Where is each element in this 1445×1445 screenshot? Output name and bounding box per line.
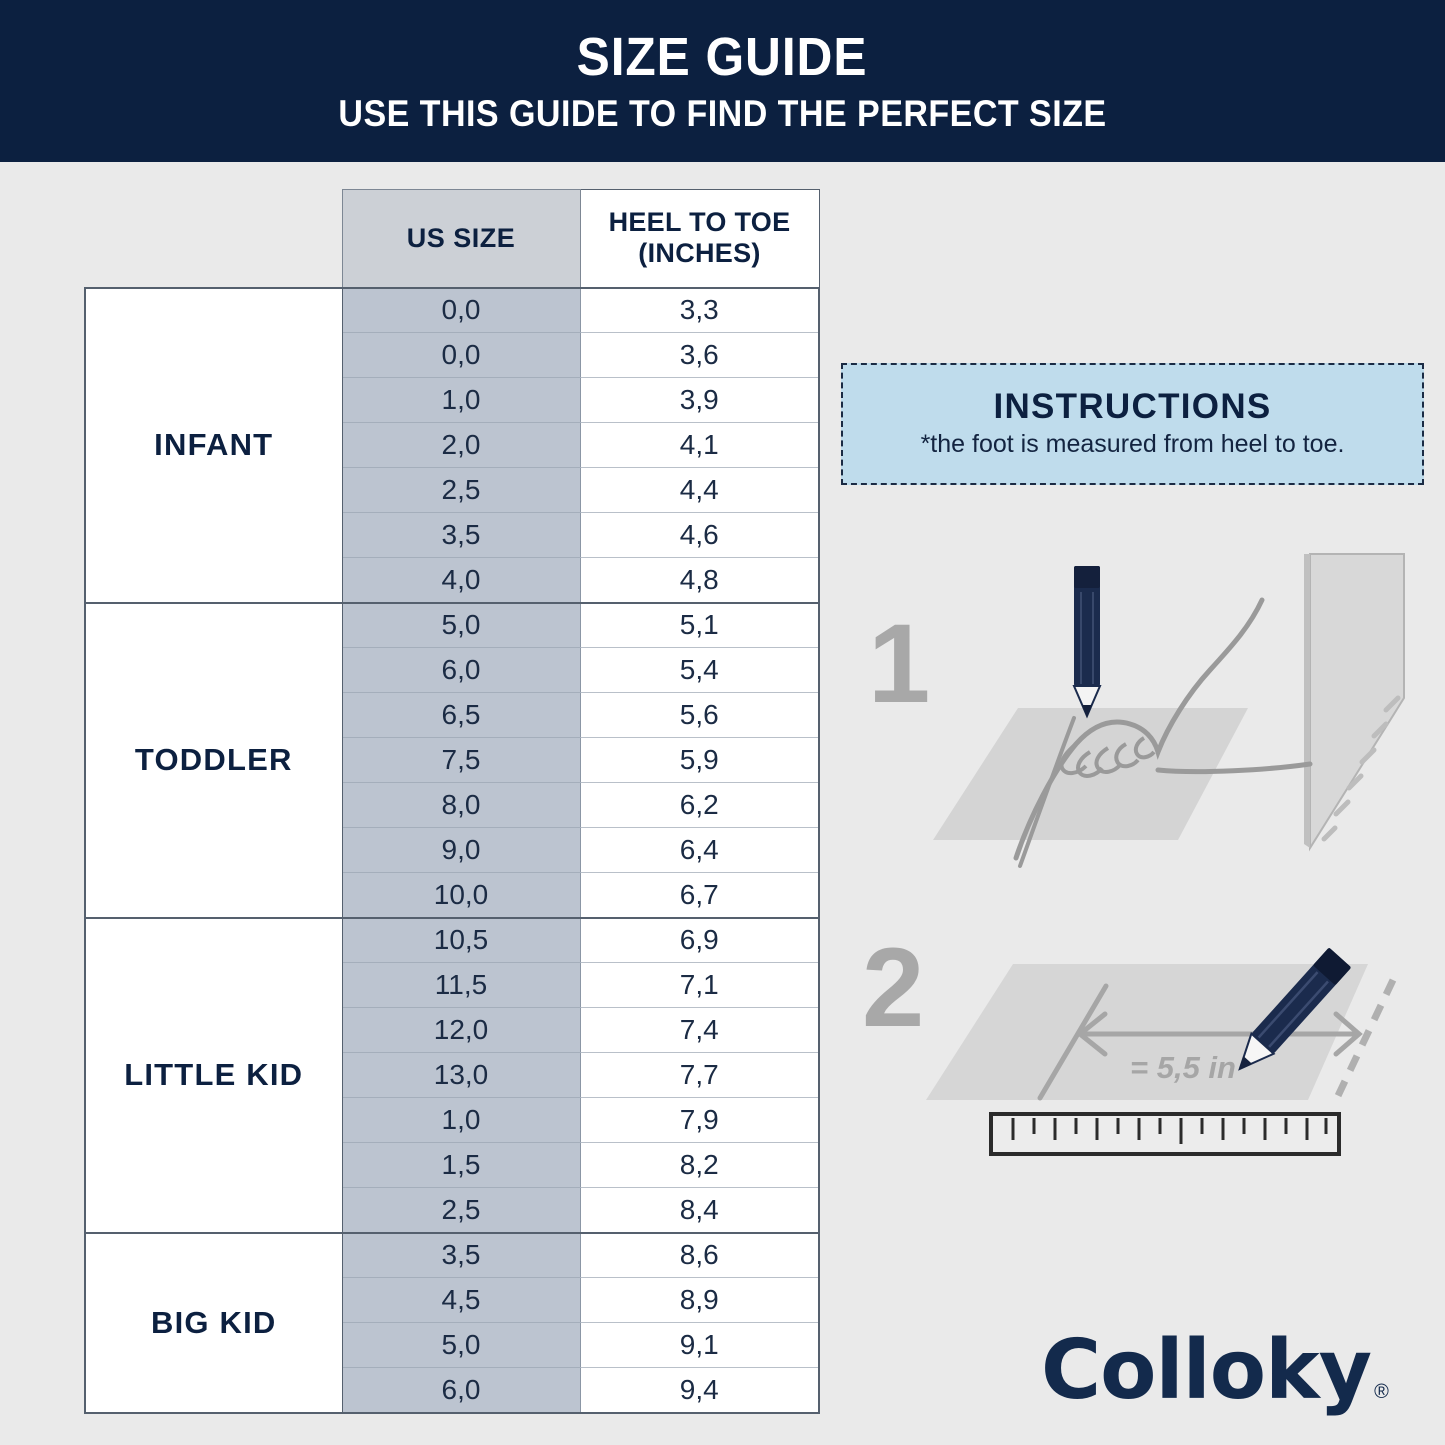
table-row: LITTLE KID10,56,9 (85, 918, 819, 963)
heel-to-toe-cell: 3,9 (580, 378, 819, 423)
step-1-number: 1 (868, 608, 930, 720)
us-size-cell: 3,5 (342, 513, 580, 558)
heel-to-toe-column-header: HEEL TO TOE (INCHES) (580, 190, 819, 288)
heel-to-toe-cell: 9,1 (580, 1323, 819, 1368)
table-row: INFANT0,03,3 (85, 288, 819, 333)
heel-to-toe-cell: 5,9 (580, 738, 819, 783)
measurement-label: = 5,5 in (1130, 1050, 1236, 1085)
us-size-cell: 4,0 (342, 558, 580, 603)
category-label-infant: INFANT (85, 288, 342, 603)
heel-to-toe-cell: 8,6 (580, 1233, 819, 1278)
instructions-title: INSTRUCTIONS (993, 389, 1271, 426)
table-body: INFANT0,03,30,03,61,03,92,04,12,54,43,54… (85, 288, 819, 1413)
us-size-cell: 1,0 (342, 378, 580, 423)
us-size-cell: 0,0 (342, 288, 580, 333)
heel-to-toe-cell: 4,1 (580, 423, 819, 468)
table-row: TODDLER5,05,1 (85, 603, 819, 648)
us-size-cell: 10,5 (342, 918, 580, 963)
us-size-cell: 8,0 (342, 783, 580, 828)
us-size-cell: 2,5 (342, 468, 580, 513)
instructions-box: INSTRUCTIONS *the foot is measured from … (841, 363, 1424, 485)
heel-to-toe-cell: 3,3 (580, 288, 819, 333)
category-column-header (85, 190, 342, 288)
step-2-diagram: = 5,5 in (858, 928, 1424, 1173)
us-size-cell: 6,5 (342, 693, 580, 738)
heel-to-toe-cell: 8,4 (580, 1188, 819, 1233)
category-label-toddler: TODDLER (85, 603, 342, 918)
heel-to-toe-cell: 3,6 (580, 333, 819, 378)
heel-to-toe-cell: 5,6 (580, 693, 819, 738)
brand-logo-text: Colloky (1041, 1330, 1371, 1412)
us-size-column-header: US SIZE (342, 190, 580, 288)
heel-to-toe-cell: 6,9 (580, 918, 819, 963)
wall-icon (1310, 554, 1404, 848)
us-size-cell: 0,0 (342, 333, 580, 378)
heel-to-toe-cell: 8,9 (580, 1278, 819, 1323)
heel-to-toe-cell: 4,6 (580, 513, 819, 558)
us-size-cell: 11,5 (342, 963, 580, 1008)
category-label-big-kid: BIG KID (85, 1233, 342, 1413)
us-size-cell: 9,0 (342, 828, 580, 873)
us-size-cell: 2,0 (342, 423, 580, 468)
us-size-cell: 1,0 (342, 1098, 580, 1143)
us-size-cell: 4,5 (342, 1278, 580, 1323)
heel-to-toe-cell: 9,4 (580, 1368, 819, 1413)
page-header-banner: SIZE GUIDE USE THIS GUIDE TO FIND THE PE… (0, 0, 1445, 162)
us-size-cell: 3,5 (342, 1233, 580, 1278)
heel-to-toe-cell: 6,4 (580, 828, 819, 873)
size-chart-table: US SIZE HEEL TO TOE (INCHES) INFANT0,03,… (84, 189, 820, 1414)
instructions-note: *the foot is measured from heel to toe. (921, 431, 1345, 459)
us-size-cell: 5,0 (342, 1323, 580, 1368)
us-size-cell: 2,5 (342, 1188, 580, 1233)
heel-to-toe-header-line1: HEEL TO TOE (581, 207, 819, 238)
us-size-cell: 7,5 (342, 738, 580, 783)
us-size-cell: 1,5 (342, 1143, 580, 1188)
us-size-cell: 10,0 (342, 873, 580, 918)
heel-to-toe-cell: 7,4 (580, 1008, 819, 1053)
brand-logo: Colloky ® (1041, 1302, 1411, 1412)
heel-to-toe-cell: 7,1 (580, 963, 819, 1008)
heel-to-toe-header-line2: (INCHES) (581, 238, 819, 269)
us-size-cell: 6,0 (342, 648, 580, 693)
heel-to-toe-cell: 7,9 (580, 1098, 819, 1143)
us-size-cell: 6,0 (342, 1368, 580, 1413)
category-label-little-kid: LITTLE KID (85, 918, 342, 1233)
heel-to-toe-cell: 6,7 (580, 873, 819, 918)
heel-to-toe-cell: 4,4 (580, 468, 819, 513)
heel-to-toe-cell: 7,7 (580, 1053, 819, 1098)
heel-to-toe-cell: 5,1 (580, 603, 819, 648)
ruler-icon (991, 1114, 1339, 1154)
table-header: US SIZE HEEL TO TOE (INCHES) (85, 190, 819, 288)
registered-trademark-icon: ® (1374, 1382, 1389, 1402)
table-header-row: US SIZE HEEL TO TOE (INCHES) (85, 190, 819, 288)
pencil-icon (1074, 566, 1100, 718)
step-1-diagram (858, 548, 1424, 888)
heel-to-toe-cell: 6,2 (580, 783, 819, 828)
us-size-cell: 12,0 (342, 1008, 580, 1053)
step-2-number: 2 (862, 932, 924, 1044)
page-subtitle: USE THIS GUIDE TO FIND THE PERFECT SIZE (338, 91, 1106, 137)
heel-to-toe-cell: 8,2 (580, 1143, 819, 1188)
page-title: SIZE GUIDE (577, 30, 868, 85)
heel-to-toe-cell: 4,8 (580, 558, 819, 603)
step-2-illustration: 2 = 5,5 in (858, 928, 1424, 1173)
size-chart-table-container: US SIZE HEEL TO TOE (INCHES) INFANT0,03,… (84, 189, 818, 1416)
table-row: BIG KID3,58,6 (85, 1233, 819, 1278)
step-1-illustration: 1 (858, 548, 1424, 888)
us-size-cell: 13,0 (342, 1053, 580, 1098)
us-size-cell: 5,0 (342, 603, 580, 648)
heel-to-toe-cell: 5,4 (580, 648, 819, 693)
